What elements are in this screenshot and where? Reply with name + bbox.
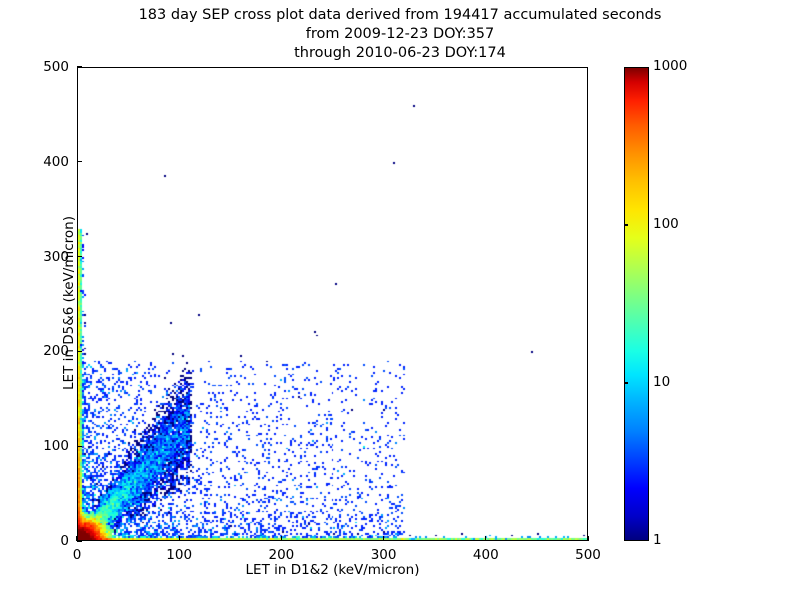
- x-tick-mark: [179, 536, 180, 541]
- colorbar-tick-mark: [624, 382, 628, 383]
- y-tick-label: 100: [9, 438, 69, 454]
- title-line-1: 183 day SEP cross plot data derived from…: [0, 6, 800, 25]
- title-line-2: from 2009-12-23 DOY:357: [0, 25, 800, 44]
- x-tick-label: 0: [47, 547, 107, 563]
- y-tick-mark: [77, 540, 82, 541]
- y-tick-label: 400: [9, 154, 69, 170]
- x-tick-mark: [485, 536, 486, 541]
- x-tick-mark: [587, 536, 588, 541]
- colorbar-tick-label: 100: [653, 216, 679, 232]
- colorbar-tick-mark: [624, 224, 628, 225]
- y-tick-mark: [77, 66, 82, 67]
- colorbar-tick-label: 1: [653, 532, 662, 548]
- x-tick-label: 300: [354, 547, 414, 563]
- x-tick-mark: [281, 536, 282, 541]
- colorbar-tick-label: 10: [653, 374, 670, 390]
- y-tick-label: 200: [9, 343, 69, 359]
- y-tick-mark: [77, 256, 82, 257]
- plot-title: 183 day SEP cross plot data derived from…: [0, 6, 800, 63]
- y-axis-label: LET in D5&6 (keV/micron): [61, 66, 77, 540]
- colorbar: [624, 67, 649, 541]
- x-tick-label: 100: [149, 547, 209, 563]
- y-tick-label: 300: [9, 249, 69, 265]
- y-tick-mark: [77, 161, 82, 162]
- x-tick-mark: [383, 536, 384, 541]
- y-tick-mark: [77, 351, 82, 352]
- y-tick-mark: [77, 446, 82, 447]
- plot-area: [77, 67, 588, 541]
- x-tick-label: 500: [558, 547, 618, 563]
- x-tick-label: 200: [251, 547, 311, 563]
- colorbar-tick-label: 1000: [653, 58, 687, 74]
- scatter-heatmap-canvas: [78, 68, 588, 541]
- x-tick-label: 400: [456, 547, 516, 563]
- figure: 183 day SEP cross plot data derived from…: [0, 0, 800, 600]
- y-tick-label: 500: [9, 59, 69, 75]
- x-axis-label: LET in D1&2 (keV/micron): [77, 562, 588, 578]
- y-tick-label: 0: [9, 533, 69, 549]
